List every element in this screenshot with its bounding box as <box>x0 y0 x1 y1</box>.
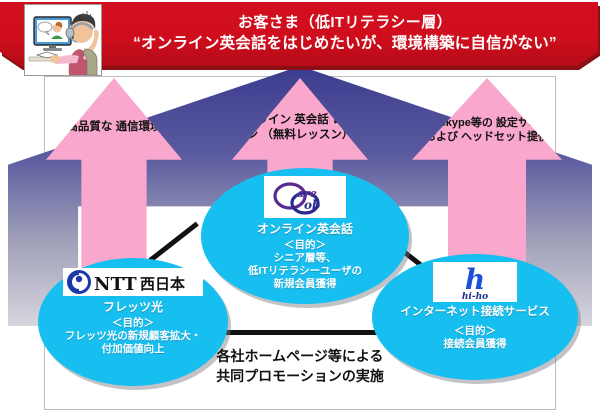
node-online-english[interactable]: are ob オンライン英会話 ＜目的＞ シニア層等、 低ITリテラシーユーザの… <box>201 168 409 304</box>
banner-line2: “オンライン英会話をはじめたいが、環境構築に自信がない” <box>133 34 557 55</box>
banner-line1: お客さま（低ITリテラシー層） <box>238 13 452 33</box>
node-left-title: フレッツ光 <box>103 300 163 314</box>
svg-text:西日本: 西日本 <box>140 275 185 293</box>
svg-text:ob: ob <box>304 198 320 212</box>
node-center-body: ＜目的＞ シニア層等、 低ITリテラシーユーザの 新規会員獲得 <box>248 239 362 290</box>
node-right-body: ＜目的＞ 接続会員獲得 <box>444 325 507 351</box>
banner-text: お客さま（低ITリテラシー層） “オンライン英会話をはじめたいが、環境構築に自信… <box>110 2 580 66</box>
diagram-canvas: 高品質な 通信環境 オンライン 英会話 レッスン （無料レッスン） PC、Sky… <box>0 0 600 416</box>
joint-promotion-caption: 各社ホームページ等による 共同プロモーションの実施 <box>150 346 450 387</box>
rarejob-logo: are ob <box>264 176 346 218</box>
node-center-title: オンライン英会話 <box>257 222 353 236</box>
svg-text:NTT: NTT <box>94 274 137 295</box>
svg-text:hi-ho: hi-ho <box>462 292 488 302</box>
hiho-logo: h hi-ho <box>433 262 517 302</box>
node-right-title: インターネット接続サービス <box>400 306 550 320</box>
ntt-west-logo: NTT 西日本 <box>63 268 203 296</box>
customer-illustration <box>24 4 102 76</box>
